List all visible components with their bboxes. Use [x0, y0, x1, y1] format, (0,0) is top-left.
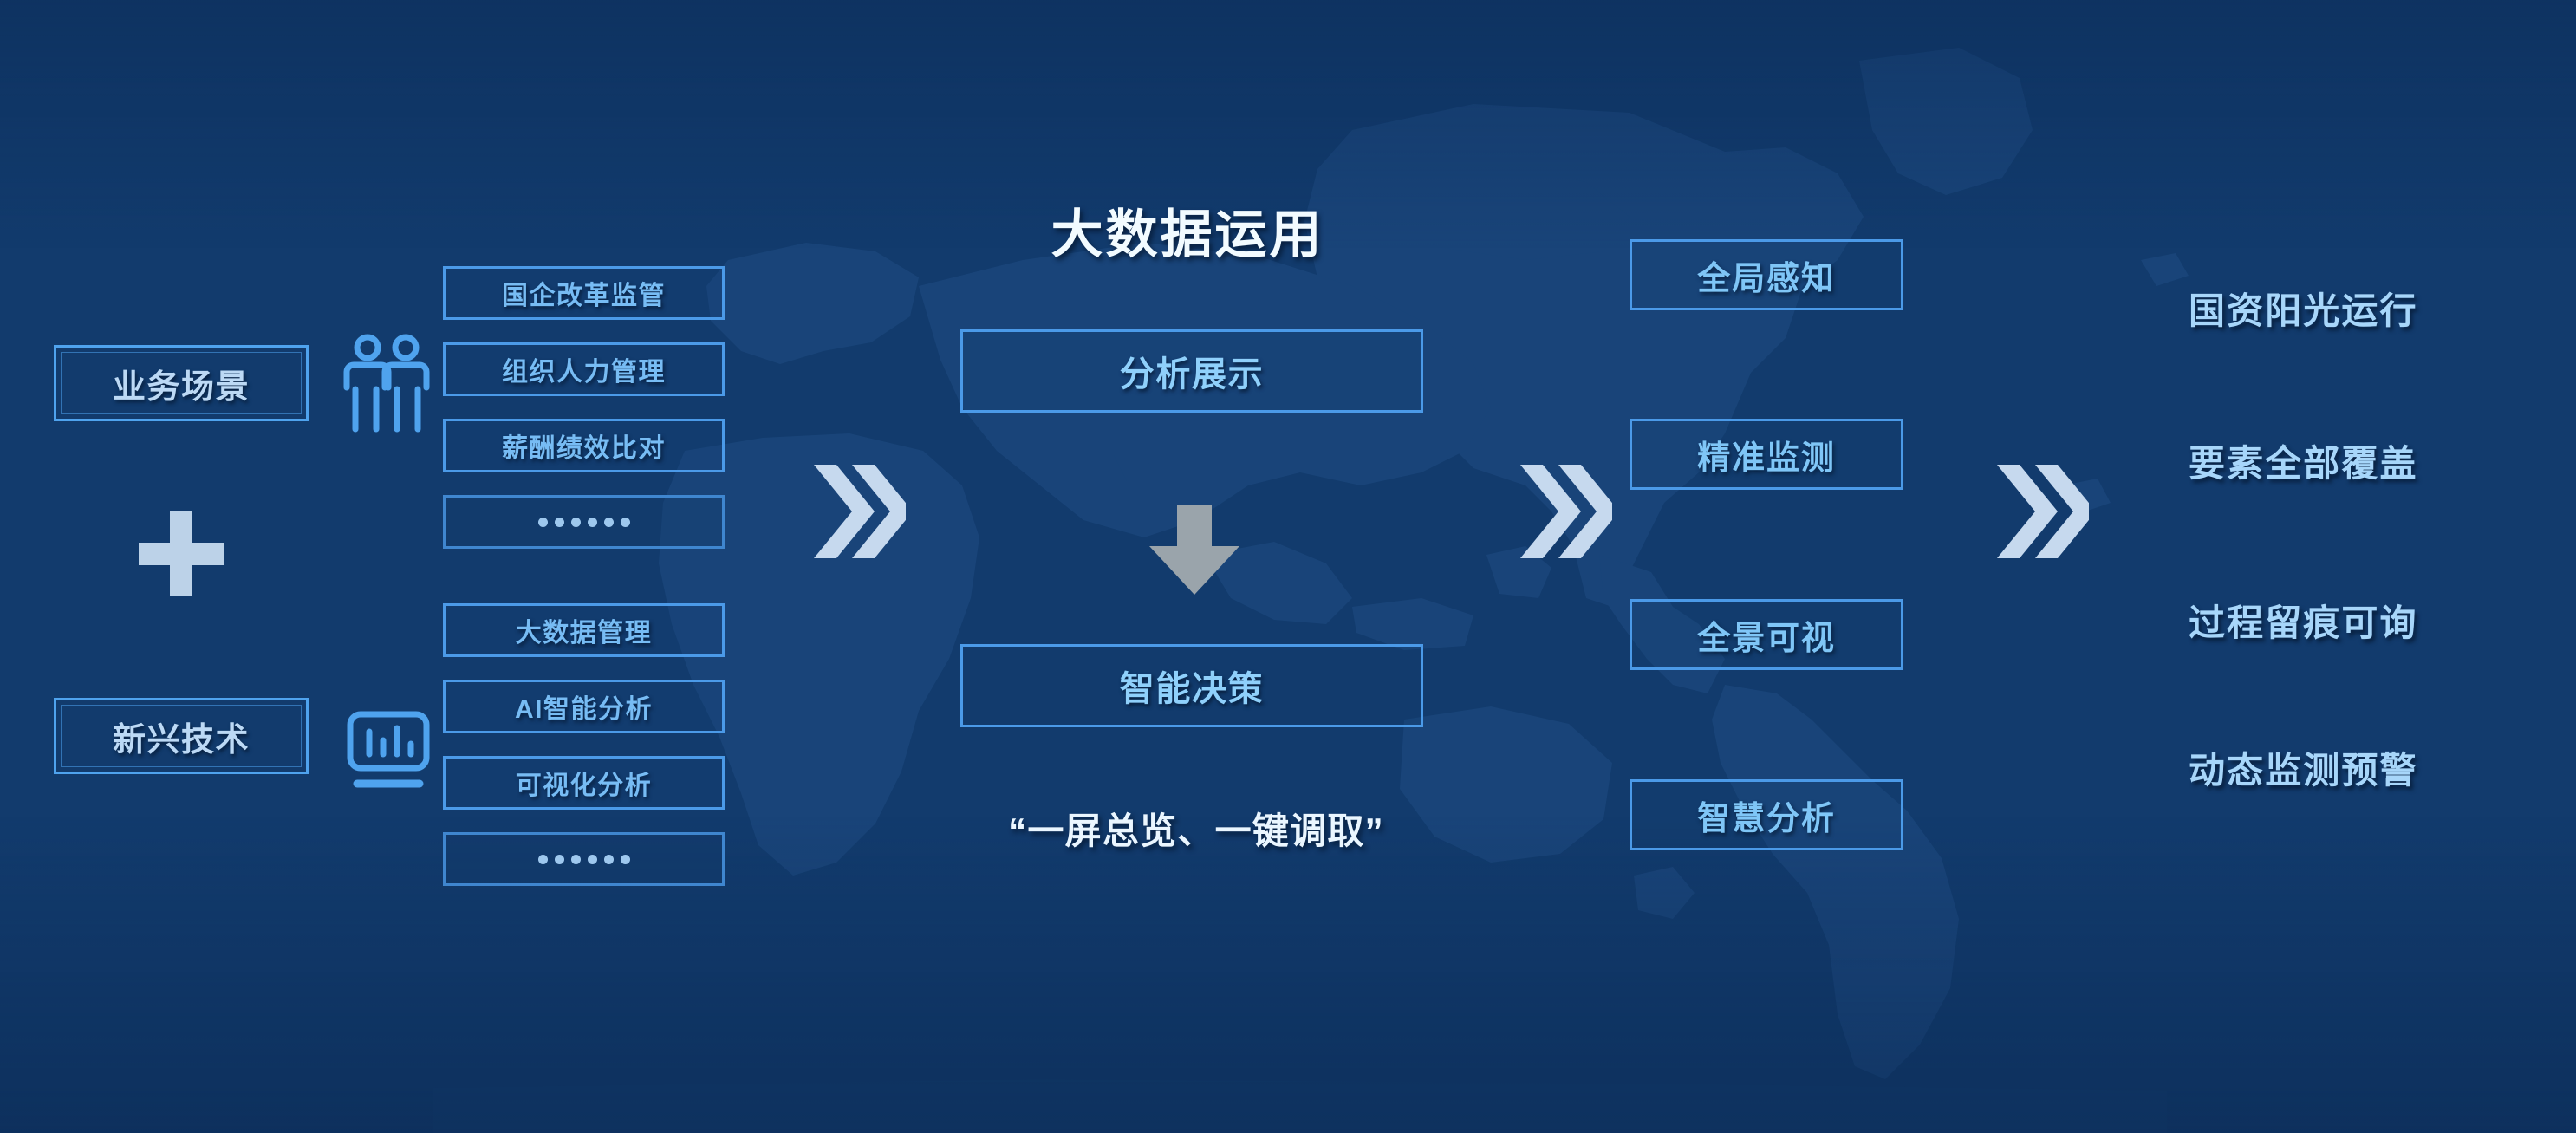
business-scenario-label: 业务场景	[113, 360, 250, 407]
list-item-label: 可视化分析	[516, 764, 653, 802]
capability-label: 全景可视	[1697, 611, 1836, 659]
plus-icon	[139, 511, 224, 596]
capability-box[interactable]: 全景可视	[1630, 599, 1903, 670]
ellipsis-dots	[538, 855, 630, 864]
list-item[interactable]: 大数据管理	[443, 603, 725, 657]
down-arrow-icon	[1142, 501, 1246, 598]
list-item[interactable]: AI智能分析	[443, 680, 725, 733]
capability-box[interactable]: 全局感知	[1630, 239, 1903, 310]
double-chevron-right-icon-svg	[810, 459, 906, 563]
business-scenario-box[interactable]: 业务场景	[54, 345, 309, 421]
list-item-label: 薪酬绩效比对	[502, 427, 666, 465]
capability-box[interactable]: 智慧分析	[1630, 779, 1903, 850]
double-chevron-right-icon-svg	[1994, 459, 2089, 563]
list-item-ellipsis[interactable]	[443, 495, 725, 549]
capability-label: 智慧分析	[1697, 791, 1836, 839]
people-icon-svg	[338, 332, 435, 436]
list-item-ellipsis[interactable]	[443, 832, 725, 886]
list-item[interactable]: 可视化分析	[443, 756, 725, 810]
intelligent-decision-box[interactable]: 智能决策	[960, 644, 1423, 727]
people-icon	[338, 332, 435, 436]
outcome-text: 过程留痕可询	[2189, 594, 2483, 647]
list-item[interactable]: 薪酬绩效比对	[443, 419, 725, 472]
list-item-label: 组织人力管理	[502, 350, 666, 388]
monitor-chart-icon	[343, 709, 433, 794]
list-item-label: 大数据管理	[516, 611, 653, 649]
analysis-display-label: 分析展示	[1120, 346, 1264, 396]
list-item-label: 国企改革监管	[502, 274, 666, 312]
analysis-display-box[interactable]: 分析展示	[960, 329, 1423, 413]
down-arrow-icon-svg	[1142, 501, 1246, 598]
outcome-text: 国资阳光运行	[2189, 282, 2483, 335]
monitor-chart-icon-svg	[343, 709, 433, 794]
ellipsis-dots	[538, 518, 630, 527]
list-item[interactable]: 国企改革监管	[443, 266, 725, 320]
double-chevron-right-icon	[1994, 459, 2089, 563]
capability-box[interactable]: 精准监测	[1630, 419, 1903, 490]
list-item-label: AI智能分析	[515, 687, 653, 726]
list-item[interactable]: 组织人力管理	[443, 342, 725, 396]
double-chevron-right-icon	[1517, 459, 1612, 563]
intelligent-decision-label: 智能决策	[1120, 661, 1264, 711]
double-chevron-right-icon-svg	[1517, 459, 1612, 563]
emerging-technology-box[interactable]: 新兴技术	[54, 698, 309, 774]
outcome-text: 动态监测预警	[2189, 741, 2483, 794]
double-chevron-right-icon	[810, 459, 906, 563]
capability-label: 全局感知	[1697, 251, 1836, 299]
center-caption: “一屏总览、一键调取”	[919, 802, 1473, 855]
capability-label: 精准监测	[1697, 431, 1836, 479]
plus-icon-vertical-bar	[170, 511, 192, 596]
background-vignette	[0, 0, 2576, 1133]
outcome-text: 要素全部覆盖	[2189, 434, 2483, 487]
page-title: 大数据运用	[979, 192, 1395, 268]
emerging-technology-label: 新兴技术	[113, 713, 250, 760]
